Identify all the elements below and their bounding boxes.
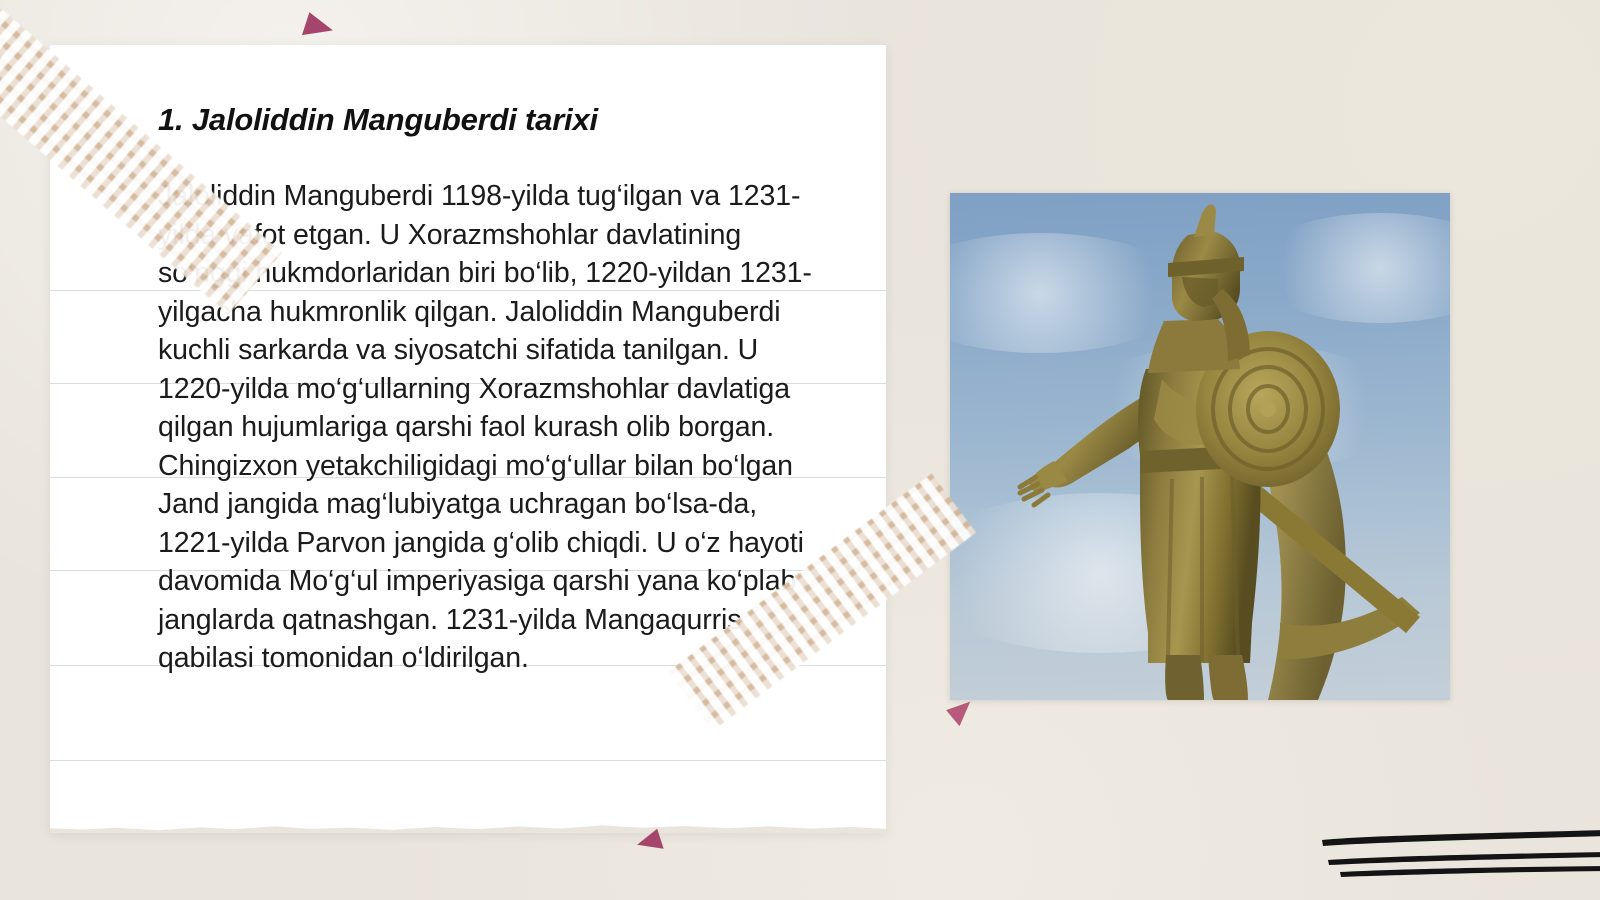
brush-line <box>1322 830 1600 846</box>
torn-paper-edge <box>50 819 886 833</box>
warrior-statue-illustration <box>950 193 1450 700</box>
statue-photo <box>950 193 1450 700</box>
brush-stroke-lines <box>1318 826 1600 886</box>
brush-line <box>1340 866 1600 877</box>
brush-line <box>1328 852 1600 865</box>
rule-line <box>50 760 886 761</box>
card-content: 1. Jaloliddin Manguberdi tarixi Jalolidd… <box>158 103 856 678</box>
page-title: 1. Jaloliddin Manguberdi tarixi <box>158 103 856 137</box>
tape-accent-triangle <box>302 12 336 43</box>
